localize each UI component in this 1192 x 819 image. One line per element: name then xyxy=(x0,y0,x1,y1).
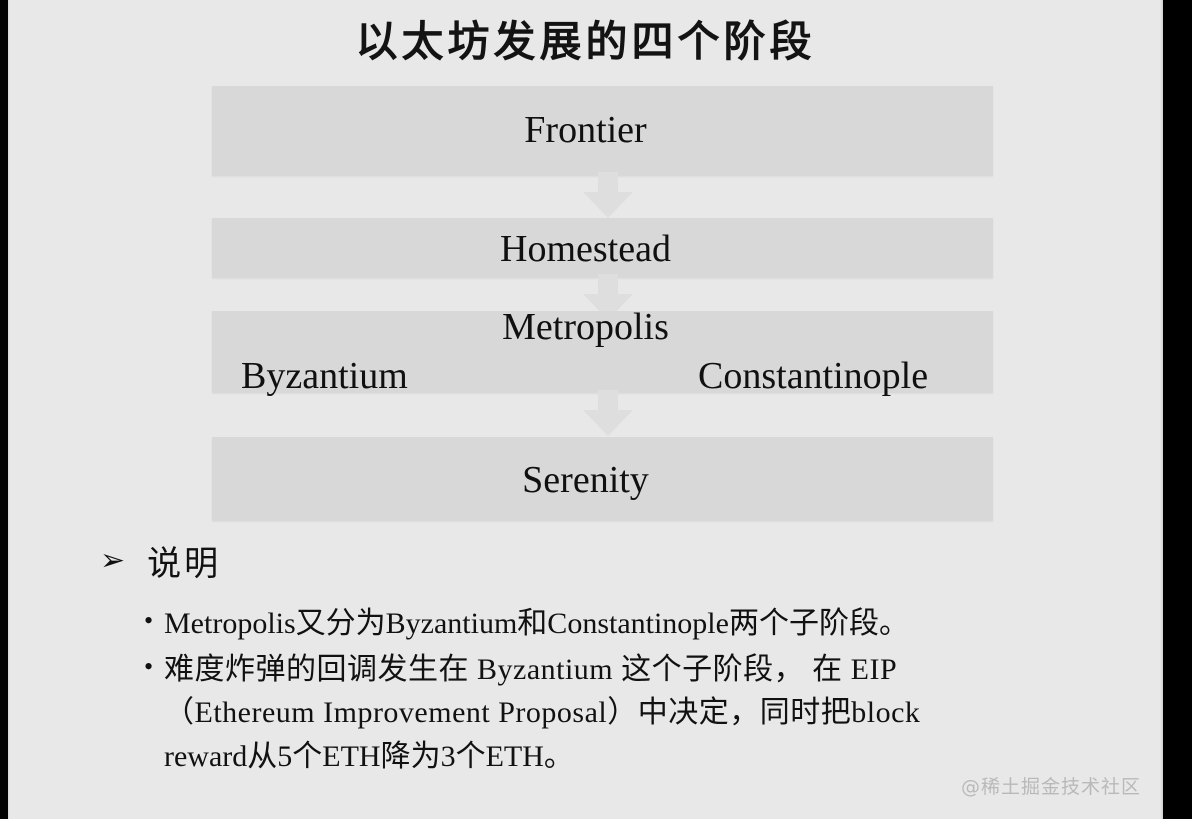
bullet-glyph: • xyxy=(144,602,164,640)
substage-label-byzantium: Byzantium xyxy=(241,354,408,398)
arrow-head xyxy=(583,410,633,436)
arrow-stem xyxy=(598,274,618,296)
down-arrow-icon xyxy=(583,390,633,436)
arrow-stem xyxy=(598,172,618,194)
stage-label-metropolis: Metropolis xyxy=(8,305,1163,349)
notes-list: • Metropolis又分为Byzantium和Constantinople两… xyxy=(144,602,1129,780)
list-item: • Metropolis又分为Byzantium和Constantinople两… xyxy=(144,602,1129,646)
stage-label-frontier: Frontier xyxy=(8,108,1163,152)
list-item: • 难度炸弹的回调发生在 Byzantium 这个子阶段， 在 EIP （Eth… xyxy=(144,648,1129,779)
list-item-line: Metropolis又分为Byzantium和Constantinople两个子… xyxy=(164,602,1129,646)
list-item-line: 难度炸弹的回调发生在 Byzantium 这个子阶段， 在 EIP xyxy=(164,648,1129,692)
notes-heading-text: 说明 xyxy=(147,536,221,585)
list-item-text: 难度炸弹的回调发生在 Byzantium 这个子阶段， 在 EIP （Ether… xyxy=(164,648,1129,779)
arrow-head xyxy=(583,192,633,218)
page-title: 以太坊发展的四个阶段 xyxy=(8,8,1163,69)
slide-canvas: 以太坊发展的四个阶段 Frontier Homestead Metropolis… xyxy=(8,0,1163,819)
down-arrow-icon xyxy=(583,172,633,218)
stage-label-serenity: Serenity xyxy=(8,458,1163,502)
arrow-bullet-icon: ➢ xyxy=(100,546,125,576)
notes-heading: ➢ 说明 xyxy=(100,536,221,585)
stage-label-homestead: Homestead xyxy=(8,227,1163,271)
bullet-glyph: • xyxy=(144,648,164,686)
list-item-line: （Ethereum Improvement Proposal）中决定，同时把bl… xyxy=(164,691,1129,735)
watermark: @稀土掘金技术社区 xyxy=(961,772,1141,799)
substage-label-constantinople: Constantinople xyxy=(698,354,928,398)
arrow-stem xyxy=(598,390,618,412)
list-item-text: Metropolis又分为Byzantium和Constantinople两个子… xyxy=(164,602,1129,646)
